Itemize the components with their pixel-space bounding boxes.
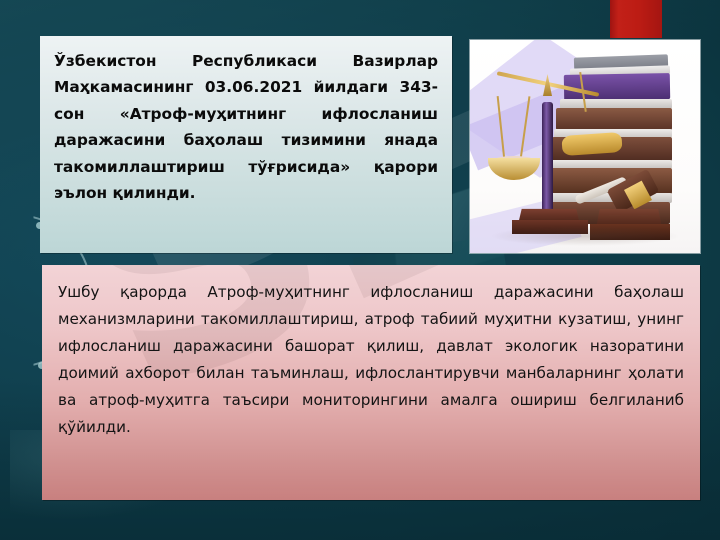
- scales-post-icon: [542, 102, 553, 212]
- body-card-text: Ушбу қарорда Атроф-муҳитнинг ифлосланиш …: [58, 279, 684, 440]
- presentation-slide: SLIDE Ўзбекистон Республикаси Вазирлар М…: [0, 0, 720, 540]
- illustration-canvas: [470, 40, 700, 253]
- illustration-shadow: [490, 226, 680, 246]
- scales-pan-icon: [488, 158, 540, 180]
- title-card-text: Ўзбекистон Республикаси Вазирлар Маҳкама…: [54, 48, 438, 207]
- illustration-frame: [470, 40, 700, 253]
- red-accent-bar: [610, 0, 662, 38]
- book-icon: [556, 108, 672, 130]
- gold-bookmark-icon: [561, 132, 622, 156]
- body-card: SLIDE Ушбу қарорда Атроф-муҳитнинг ифлос…: [42, 265, 700, 500]
- title-card: Ўзбекистон Республикаси Вазирлар Маҳкама…: [40, 36, 452, 253]
